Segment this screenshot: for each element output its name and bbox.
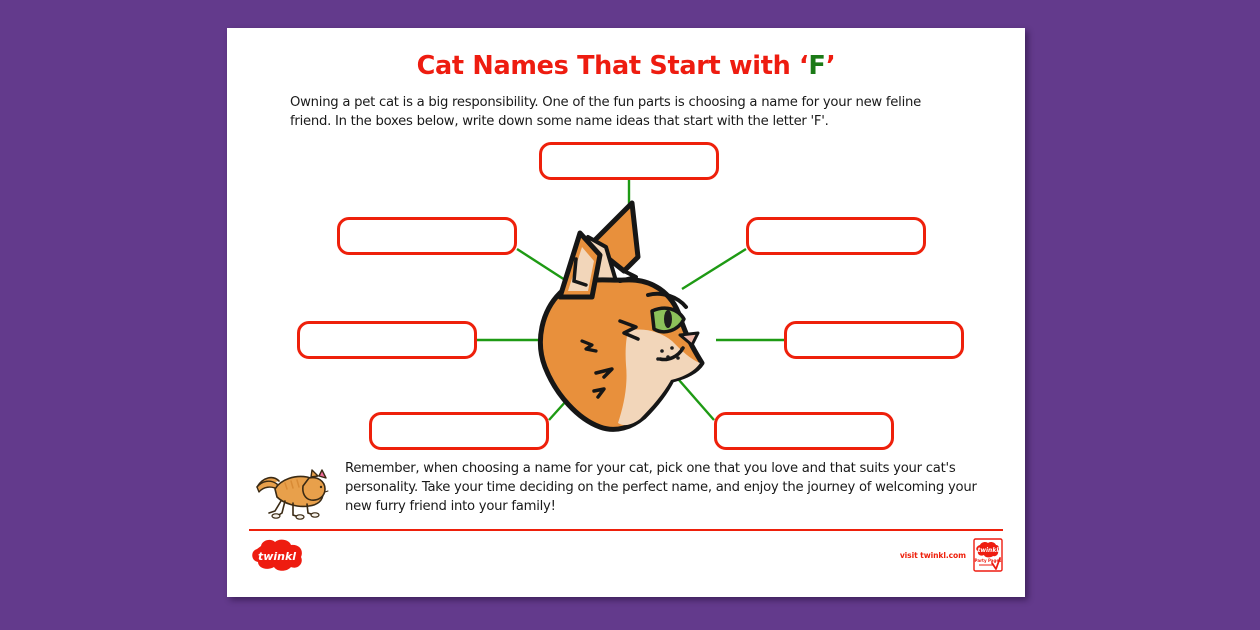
footer-right: visit twinkl.com twinkl Party Pages bbox=[900, 538, 1003, 572]
intro-paragraph: Owning a pet cat is a big responsibility… bbox=[290, 93, 962, 131]
twinkl-logo-text: twinkl bbox=[258, 550, 296, 563]
diagram-area bbox=[227, 137, 1025, 455]
visit-url-text[interactable]: visit twinkl.com bbox=[900, 551, 966, 560]
cat-head-illustration bbox=[520, 185, 735, 445]
twinkl-logo: twinkl bbox=[249, 538, 305, 572]
footnote-row: Remember, when choosing a name for your … bbox=[227, 459, 1025, 521]
page-title-highlight-letter: F bbox=[808, 51, 826, 81]
answer-box-middle-left[interactable] bbox=[297, 321, 477, 359]
answer-box-middle-right[interactable] bbox=[784, 321, 964, 359]
walking-cat-illustration bbox=[251, 463, 337, 521]
page-title-text-after: ’ bbox=[826, 51, 835, 81]
page-title-text-before: Cat Names That Start with ‘ bbox=[417, 51, 809, 81]
twinkl-badge-text: twinkl bbox=[978, 547, 1000, 554]
answer-box-upper-right[interactable] bbox=[746, 217, 926, 255]
page-footer: twinkl visit twinkl.com twinkl Party Pag… bbox=[227, 531, 1025, 575]
twinkl-badge: twinkl Party Pages bbox=[973, 538, 1003, 572]
footnote-text: Remember, when choosing a name for your … bbox=[337, 459, 995, 516]
answer-box-lower-right[interactable] bbox=[714, 412, 894, 450]
worksheet-page: Cat Names That Start with ‘F’ Owning a p… bbox=[227, 28, 1025, 597]
answer-box-lower-left[interactable] bbox=[369, 412, 549, 450]
answer-box-upper-left[interactable] bbox=[337, 217, 517, 255]
page-title: Cat Names That Start with ‘F’ bbox=[227, 28, 1025, 80]
answer-box-top[interactable] bbox=[539, 142, 719, 180]
